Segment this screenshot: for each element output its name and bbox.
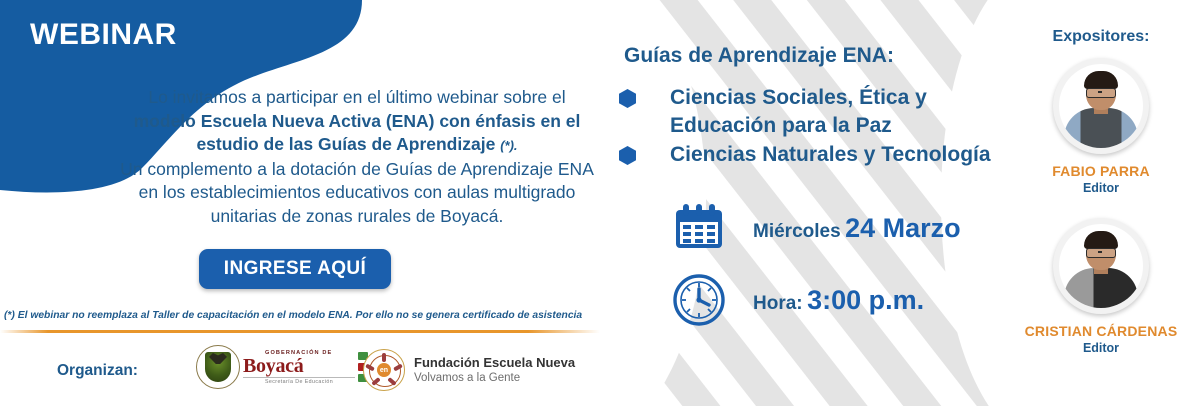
guia-item-2: Ciencias Naturales y Tecnología [619, 141, 991, 169]
speaker-role: Editor [1016, 341, 1186, 355]
hexagon-bullet-icon [619, 89, 636, 108]
event-date-row: Miércoles 24 Marzo [671, 200, 961, 256]
speaker-name: CRISTIAN CÁRDENAS [1016, 323, 1186, 339]
event-time-label: Hora: [753, 293, 803, 314]
orange-divider [0, 330, 600, 333]
invite-line-3-text: estudio de las Guías de Aprendizaje [196, 134, 495, 154]
invite-line-2: modelo Escuela Nueva Activa (ENA) con én… [120, 110, 594, 134]
guia-item-1: Ciencias Sociales, Ética y Educación par… [619, 84, 927, 140]
boyaca-coat-of-arms-icon [196, 345, 240, 389]
invite-line-3: estudio de las Guías de Aprendizaje (*). [120, 133, 594, 158]
glasses-icon [1086, 88, 1116, 98]
boyaca-logo: GOBERNACIÓN DE Boyacá Secretaría De Educ… [196, 345, 355, 389]
boyaca-name: Boyacá [243, 356, 355, 376]
invite-line-1: Lo invitamos a participar en el último w… [120, 86, 594, 110]
avatar [1053, 218, 1149, 314]
organizers-section: Organizan: GOBERNACIÓN DE Boyacá Secreta… [0, 340, 600, 406]
calendar-icon [671, 200, 727, 256]
event-time-row: Hora: 3:00 p.m. [671, 272, 924, 328]
speaker-role: Editor [1016, 181, 1186, 195]
disclaimer-footnote: (*) El webinar no reemplaza al Taller de… [4, 310, 596, 321]
speaker-photo [1059, 64, 1143, 148]
fen-subtitle: Volvamos a la Gente [414, 371, 575, 386]
event-weekday: Miércoles [753, 221, 841, 242]
footnote-marker: (*). [500, 138, 517, 153]
webinar-banner: WEBINAR Lo invitamos a participar en el … [0, 0, 1186, 406]
event-time-value: 3:00 p.m. [807, 285, 924, 315]
ingrese-aqui-button[interactable]: INGRESE AQUÍ [199, 249, 391, 289]
fen-title: Fundación Escuela Nueva [414, 355, 575, 371]
invite-line-4: Un complemento a la dotación de Guías de… [120, 158, 594, 182]
avatar [1053, 58, 1149, 154]
fundacion-escuela-nueva-logo: en Fundación Escuela Nueva Volvamos a la… [363, 349, 575, 391]
fen-emblem-icon: en [363, 349, 405, 391]
guia-item-1-text: Ciencias Sociales, Ética y Educación par… [670, 84, 927, 140]
invitation-paragraph: Lo invitamos a participar en el último w… [120, 86, 594, 228]
boyaca-rule [243, 377, 355, 378]
speakers-heading: Expositores: [1016, 28, 1186, 46]
speaker-name: FABIO PARRA [1016, 163, 1186, 179]
event-date-text: Miércoles 24 Marzo [753, 212, 961, 244]
speakers-panel: Expositores: FABIO PARRA Editor [1016, 0, 1186, 406]
guias-heading: Guías de Aprendizaje ENA: [624, 44, 894, 68]
fen-logo-text: Fundación Escuela Nueva Volvamos a la Ge… [414, 355, 575, 386]
invite-line-6: unitarias de zonas rurales de Boyacá. [120, 205, 594, 229]
guia-item-1-line-2: Educación para la Paz [670, 112, 927, 140]
boyaca-logo-text: GOBERNACIÓN DE Boyacá Secretaría De Educ… [243, 350, 355, 385]
boyaca-secretaria-label: Secretaría De Educación [243, 379, 355, 385]
page-title: WEBINAR [30, 18, 177, 52]
glasses-icon [1086, 248, 1116, 258]
event-date-value: 24 Marzo [845, 213, 961, 243]
speaker-card: FABIO PARRA Editor [1016, 58, 1186, 195]
invite-line-5: en los establecimientos educativos con a… [120, 181, 594, 205]
event-time-text: Hora: 3:00 p.m. [753, 284, 924, 316]
center-panel: Guías de Aprendizaje ENA: Ciencias Socia… [586, 0, 1016, 406]
speaker-card: CRISTIAN CÁRDENAS Editor [1016, 218, 1186, 355]
left-panel: WEBINAR Lo invitamos a participar en el … [0, 0, 600, 406]
speaker-photo [1059, 224, 1143, 308]
fen-emblem-text: en [377, 363, 391, 377]
hexagon-bullet-icon [619, 146, 636, 165]
guia-item-2-text: Ciencias Naturales y Tecnología [670, 141, 991, 169]
organizers-label: Organizan: [57, 362, 138, 380]
clock-icon [671, 272, 727, 328]
guia-item-2-line-1: Ciencias Naturales y Tecnología [670, 141, 991, 169]
guia-item-1-line-1: Ciencias Sociales, Ética y [670, 84, 927, 112]
